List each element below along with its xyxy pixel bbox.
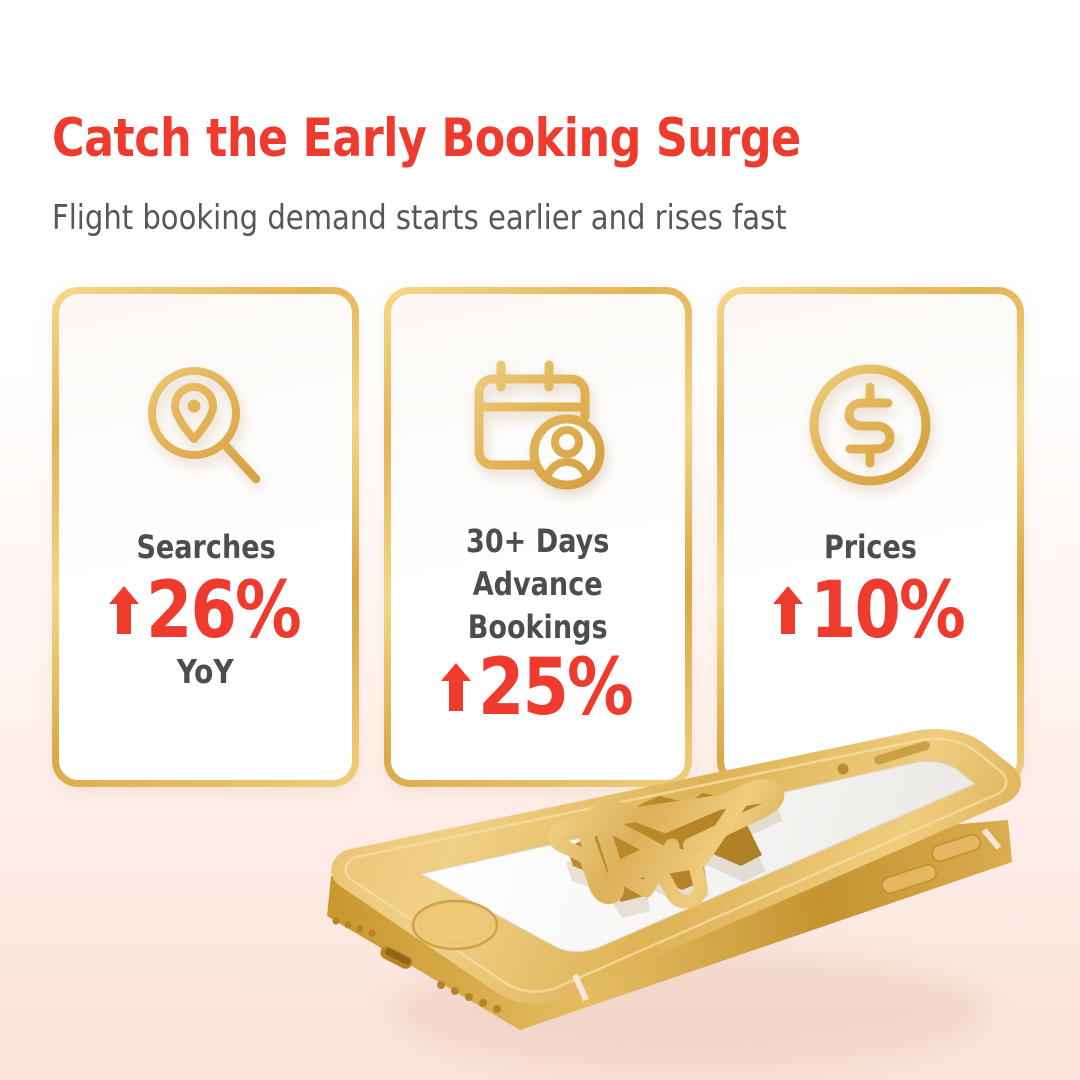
stat-card-row: Searches 26% YoY bbox=[52, 287, 1024, 787]
phone-screen bbox=[421, 761, 975, 952]
stat-card-sublabel: YoY bbox=[177, 652, 234, 691]
page-subtitle: Flight booking demand starts earlier and… bbox=[52, 198, 787, 238]
stat-value-row: 10% bbox=[772, 573, 968, 649]
stat-value: 10% bbox=[810, 573, 964, 649]
stat-value: 25% bbox=[478, 650, 632, 726]
volume-buttons bbox=[880, 833, 982, 896]
stat-card-label: Prices bbox=[814, 526, 926, 569]
stat-card-prices[interactable]: Prices 10% bbox=[717, 287, 1024, 787]
airplane-icon bbox=[555, 786, 782, 918]
dollar-coin-icon bbox=[800, 356, 940, 498]
stat-value: 26% bbox=[146, 573, 300, 649]
speaker-holes-left bbox=[332, 917, 375, 936]
trend-up-arrow-icon bbox=[440, 662, 472, 717]
page-title: Catch the Early Booking Surge bbox=[52, 108, 801, 169]
search-location-icon bbox=[136, 356, 276, 498]
phone-shadow bbox=[390, 948, 990, 1072]
home-button bbox=[413, 901, 497, 949]
stat-value-row: 26% bbox=[108, 573, 304, 649]
stat-card-advance-bookings[interactable]: 30+ Days Advance Bookings 25% bbox=[384, 287, 691, 787]
infographic-root: Catch the Early Booking Surge Flight boo… bbox=[0, 0, 1080, 1080]
trend-up-arrow-icon bbox=[108, 585, 140, 640]
phone-side-edge bbox=[327, 820, 1012, 1030]
stat-card-label: 30+ Days Advance Bookings bbox=[400, 520, 676, 650]
stat-card-searches[interactable]: Searches 26% YoY bbox=[52, 287, 359, 787]
stat-value-row: 25% bbox=[440, 650, 636, 726]
charging-port bbox=[378, 944, 414, 971]
stat-card-label: Searches bbox=[127, 526, 285, 569]
antenna-bands bbox=[575, 830, 999, 1000]
speaker-holes-bottom bbox=[437, 981, 501, 1013]
calendar-person-icon bbox=[463, 356, 613, 498]
phone-screen-outline bbox=[421, 761, 975, 952]
trend-up-arrow-icon bbox=[772, 585, 804, 640]
